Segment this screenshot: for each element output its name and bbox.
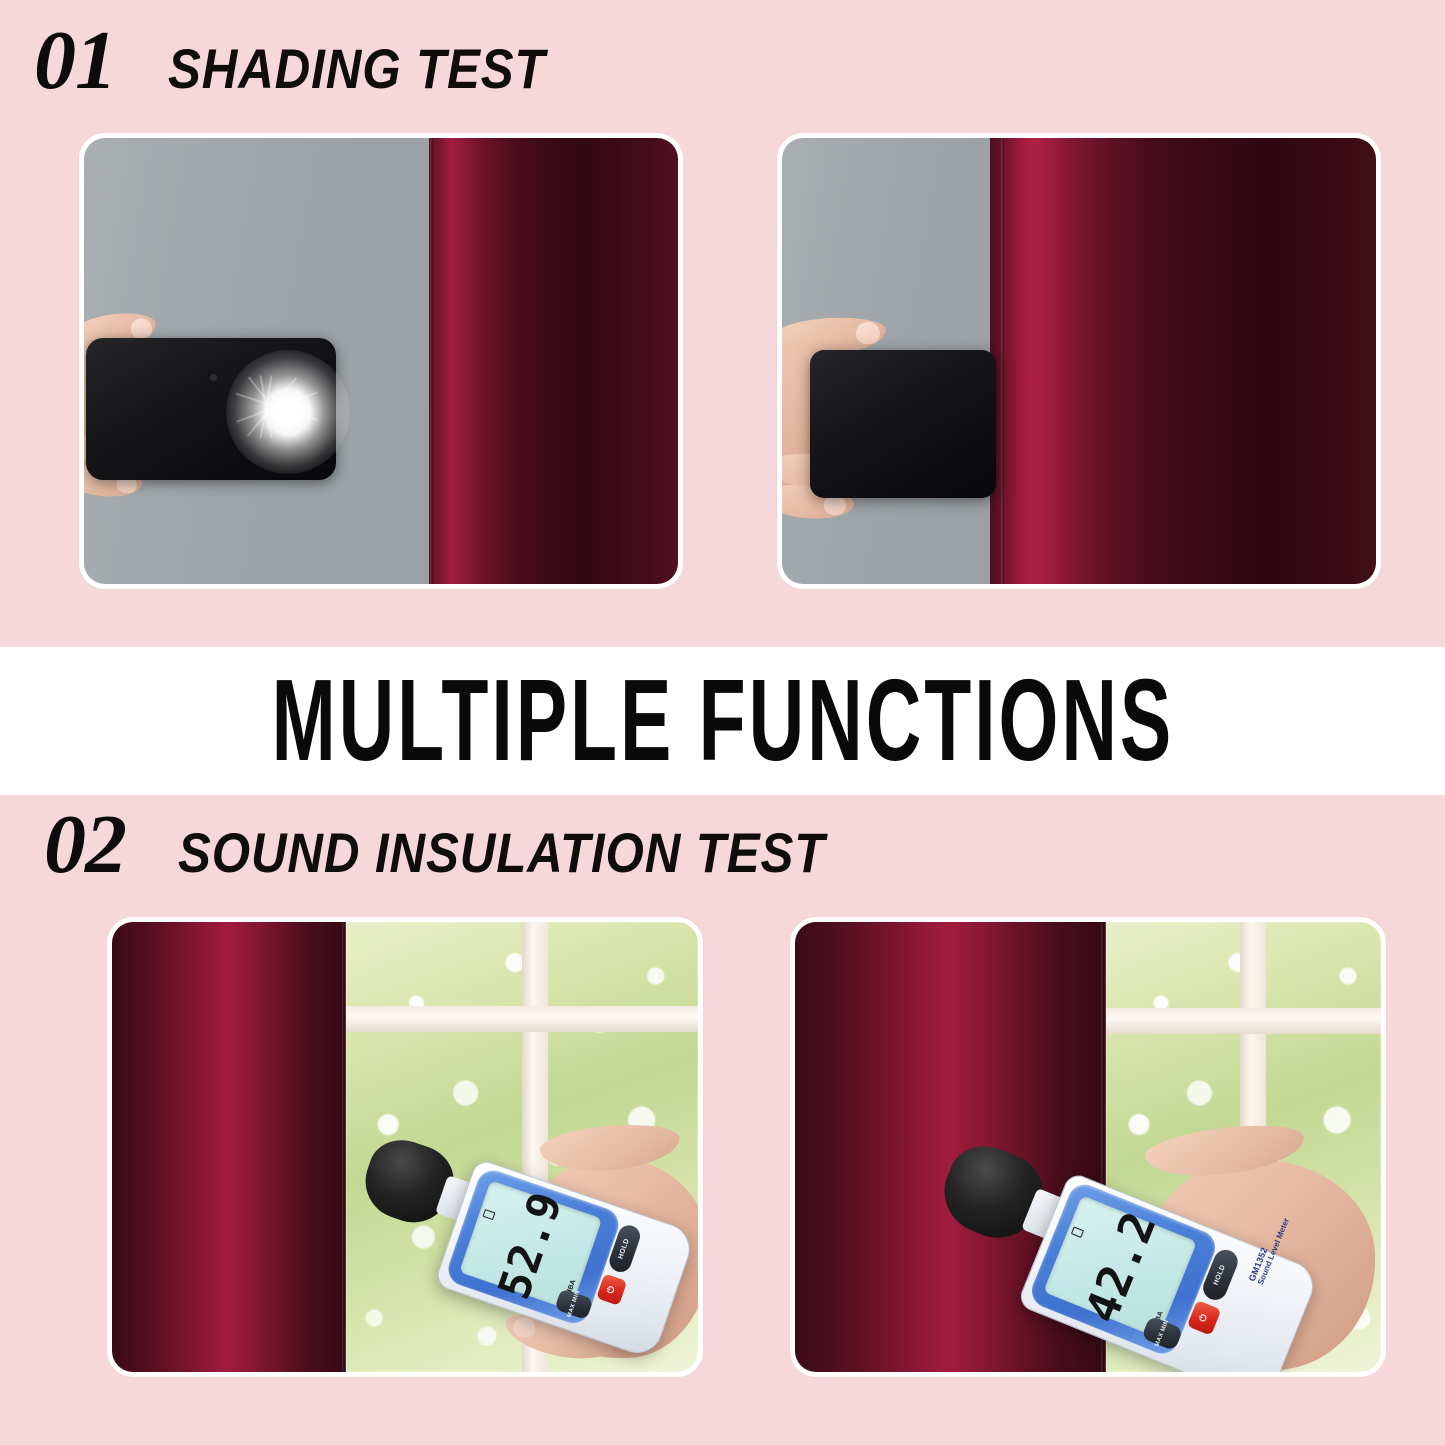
photo-inner [782,138,1376,584]
photo-inner: 42.2 dBA HOLD ⏻ MAX MIN GM1352 Sound Lev… [795,922,1381,1372]
lcd-reading: 42.2 [1074,1203,1167,1330]
fingernail [130,317,153,339]
phone-camera-icon [210,374,217,381]
photo-inner [84,138,678,584]
curtain-burgundy [990,138,1376,584]
section-01-header: 01 SHADING TEST [34,22,597,100]
banner-multiple-functions: MULTIPLE FUNCTIONS [0,647,1445,795]
curtain-burgundy [112,922,346,1372]
section-01-title: SHADING TEST [168,39,545,99]
photo-sound-meter-window[interactable]: 52.9 dBA HOLD ⏻ MAX MIN [107,917,703,1377]
phone-device [810,350,996,498]
fingernail [855,321,880,344]
photo-sound-meter-curtain[interactable]: 42.2 dBA HOLD ⏻ MAX MIN GM1352 Sound Lev… [790,917,1386,1377]
photo-inner: 52.9 dBA HOLD ⏻ MAX MIN [112,922,698,1372]
curtain-seam [1001,138,1004,584]
section-02-header: 02 SOUND INSULATION TEST [44,806,914,884]
curtain-seam [430,138,433,584]
window-mullion-horizontal [346,1006,698,1032]
photo-shading-flashlight-blocked[interactable] [777,133,1381,589]
banner-title: MULTIPLE FUNCTIONS [271,663,1174,779]
curtain-burgundy [429,138,678,584]
section-01-number: 01 [34,22,116,100]
section-02-number: 02 [44,806,126,884]
photo-shading-flashlight-on[interactable] [79,133,683,589]
flashlight-icon [226,350,350,474]
window-mullion-horizontal [1106,1008,1381,1034]
lcd-reading: 52.9 [489,1185,573,1306]
finger-index [538,1120,681,1176]
section-02-title: SOUND INSULATION TEST [178,823,825,883]
